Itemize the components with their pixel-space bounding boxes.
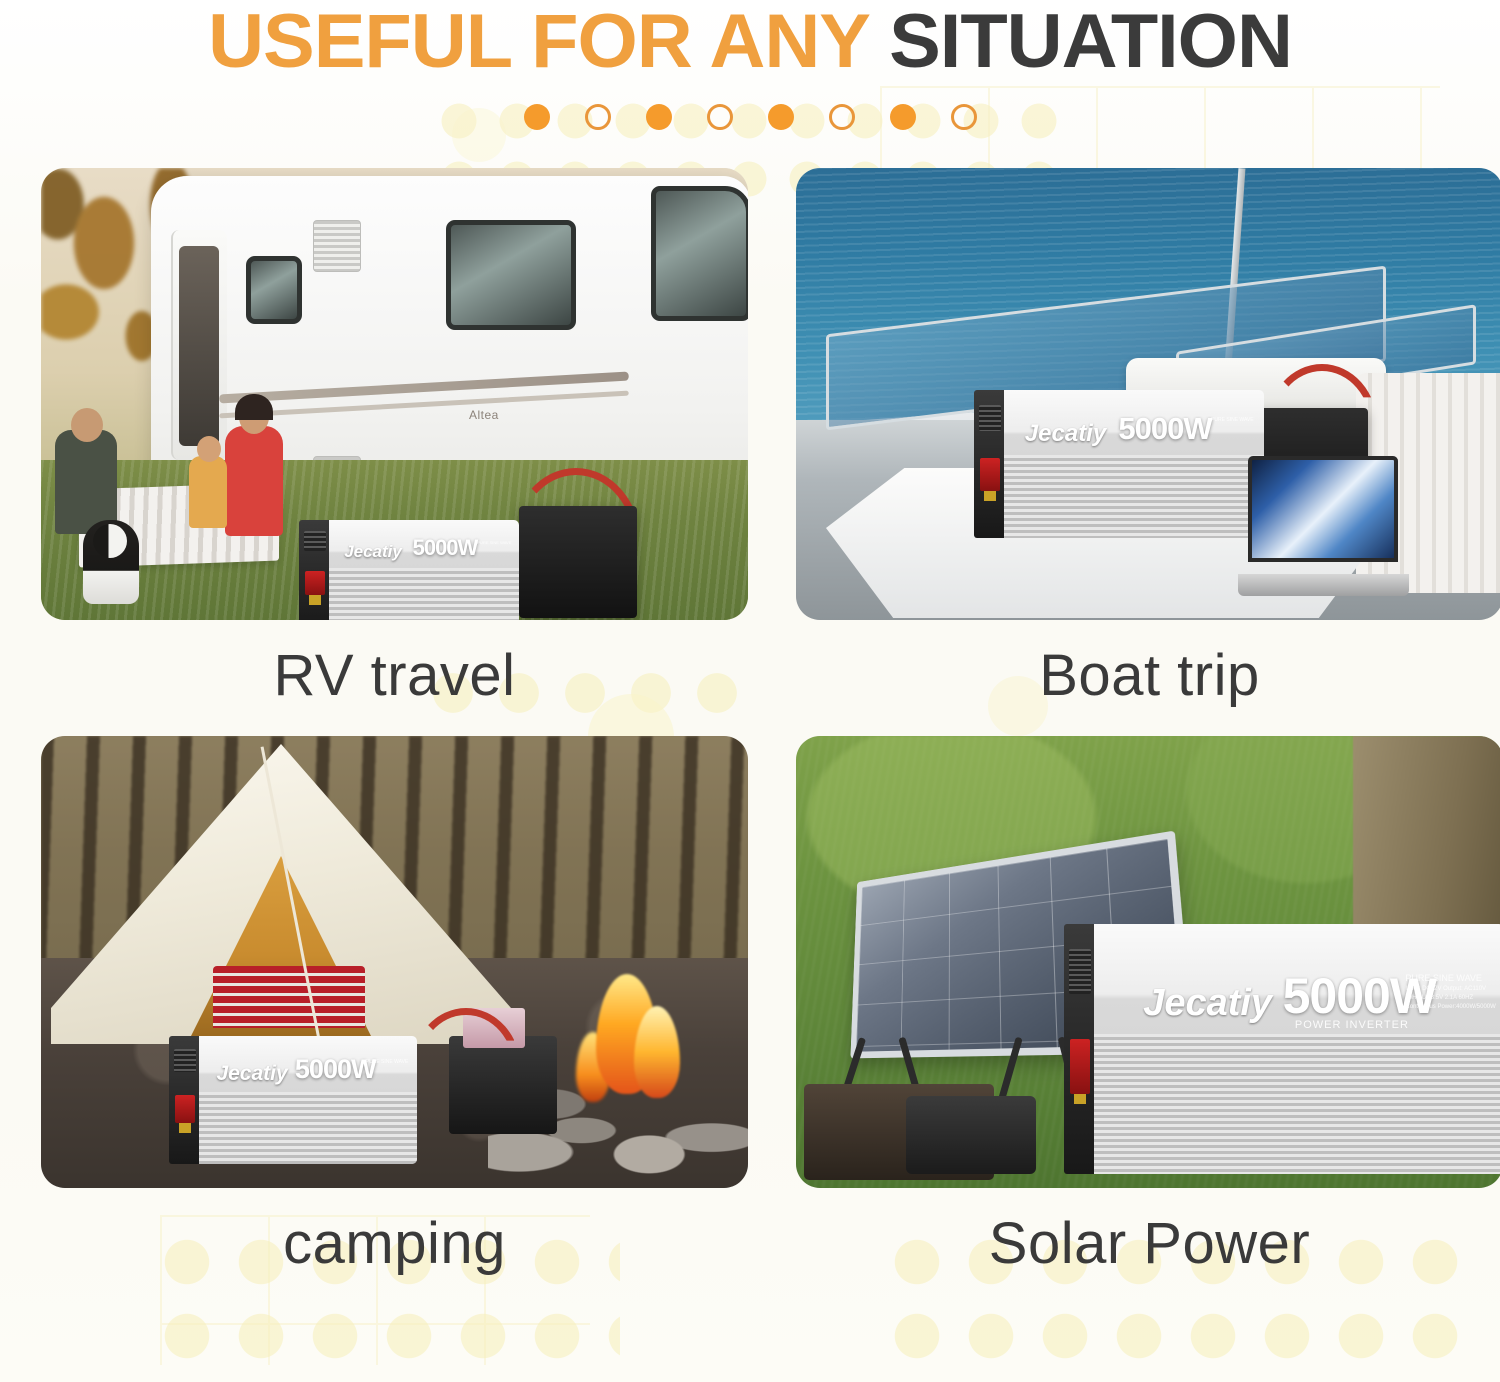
caption-camping: camping	[41, 1188, 748, 1298]
inverter-subtitle-label: POWER INVERTER	[415, 573, 474, 579]
scene-photo-camping: Jecatiy 5000W POWER INVERTER PURE SINE W…	[41, 736, 748, 1188]
inverter-subtitle-label: POWER INVERTER	[297, 1097, 356, 1103]
tent-red-bedding	[213, 966, 365, 1028]
campfire	[568, 978, 718, 1128]
scene-photo-solar-power: Jecatiy 5000W POWER INVERTER PURE SINE W…	[796, 736, 1500, 1188]
inverter-subtitle-label: POWER INVERTER	[1295, 1019, 1409, 1031]
caravan-doorway-opening	[179, 246, 219, 446]
caravan-window-rear	[651, 186, 748, 321]
inverter-spec-heading: PURE SINE WAVE	[1405, 972, 1495, 986]
caption-rv-travel: RV travel	[41, 620, 748, 730]
inverter-brand-label: Jecatiy	[216, 1062, 287, 1086]
inverter-terminal-panel	[1064, 924, 1098, 1174]
inverter-brand-label: Jecatiy	[344, 542, 402, 562]
dot-4	[707, 104, 733, 130]
page-title-dark: SITUATION	[889, 0, 1292, 84]
inverter-brand-label: Jecatiy	[1143, 982, 1272, 1025]
dot-7	[890, 104, 916, 130]
inverter-front-face: Jecatiy 5000W POWER INVERTER PURE SINE W…	[1004, 390, 1264, 538]
decorative-dot-row	[0, 104, 1500, 130]
use-case-grid: Altea Jecatiy 5000W POWER INVERTER	[19, 168, 1481, 1298]
inverter-wattage-label: 5000W	[413, 535, 478, 561]
inverter-device-camping: Jecatiy 5000W POWER INVERTER PURE SINE W…	[169, 1036, 417, 1164]
inverter-spec-line-1: Input: DC12V Output: AC110V	[1405, 985, 1495, 994]
inverter-spec-block: PURE SINE WAVE Input: DC12V Output: AC11…	[1405, 972, 1495, 1013]
inverter-device-rv: Jecatiy 5000W POWER INVERTER PURE SINE W…	[299, 520, 519, 620]
person-child	[189, 456, 227, 528]
dog-face	[93, 524, 127, 558]
inverter-front-face: Jecatiy 5000W POWER INVERTER PURE SINE W…	[1094, 924, 1500, 1174]
inverter-spec-line-3: Continuous Power:4000W/5000W	[1405, 1003, 1495, 1012]
inverter-front-face: Jecatiy 5000W POWER INVERTER PURE SINE W…	[329, 520, 519, 620]
inverter-wattage-label: 5000W	[1118, 411, 1211, 447]
campfire-flame-secondary	[634, 1006, 680, 1098]
inverter-front-face: Jecatiy 5000W POWER INVERTER PURE SINE W…	[199, 1036, 417, 1164]
inverter-terminal-panel	[169, 1036, 203, 1164]
inverter-spec-heading: PURE SINE WAVE	[366, 1059, 409, 1067]
inverter-spec-heading: PURE SINE WAVE	[477, 540, 511, 546]
person-adult-female	[225, 426, 283, 536]
caravan-window-large	[446, 220, 576, 330]
dot-3	[646, 104, 672, 130]
inverter-device-solar: Jecatiy 5000W POWER INVERTER PURE SINE W…	[1064, 924, 1500, 1174]
inverter-subtitle-label: POWER INVERTER	[1121, 461, 1190, 467]
use-case-card-rv-travel: Altea Jecatiy 5000W POWER INVERTER	[41, 168, 748, 730]
scene-photo-boat-trip: Jecatiy 5000W POWER INVERTER PURE SINE W…	[796, 168, 1500, 620]
page-header: USEFUL FOR ANY SITUATION	[0, 0, 1500, 130]
laptop-keyboard-base	[1238, 574, 1409, 596]
dot-1	[524, 104, 550, 130]
person-adult-male	[55, 430, 117, 534]
inverter-brand-label: Jecatiy	[1025, 420, 1106, 448]
inverter-wattage-label: 5000W	[295, 1054, 376, 1085]
scene-photo-rv-travel: Altea Jecatiy 5000W POWER INVERTER	[41, 168, 748, 620]
person-adult-female-hair	[235, 394, 273, 420]
inverter-spec-heading: PURE SINE WAVE	[1211, 417, 1254, 425]
use-case-card-boat-trip: Jecatiy 5000W POWER INVERTER PURE SINE W…	[796, 168, 1500, 730]
caption-boat-trip: Boat trip	[796, 620, 1500, 730]
caption-solar-power: Solar Power	[796, 1188, 1500, 1298]
person-child-head	[197, 436, 221, 462]
equipment-bag	[906, 1096, 1036, 1174]
caravan-window-small	[246, 256, 302, 324]
inverter-device-boat: Jecatiy 5000W POWER INVERTER PURE SINE W…	[974, 390, 1264, 538]
laptop-screen	[1248, 456, 1398, 562]
laptop-computer	[1248, 456, 1398, 596]
dot-6	[829, 104, 855, 130]
use-case-card-solar-power: Jecatiy 5000W POWER INVERTER PURE SINE W…	[796, 736, 1500, 1298]
dot-2	[585, 104, 611, 130]
page-title: USEFUL FOR ANY SITUATION	[0, 2, 1500, 82]
dot-5	[768, 104, 794, 130]
page-title-orange: USEFUL FOR ANY	[208, 0, 869, 84]
inverter-spec-line-2: 50HZ USB:5V 2.1A 60HZ	[1405, 994, 1495, 1003]
person-adult-male-head	[71, 408, 103, 442]
dot-8	[951, 104, 977, 130]
use-case-card-camping: Jecatiy 5000W POWER INVERTER PURE SINE W…	[41, 736, 748, 1298]
battery-rv	[519, 506, 637, 618]
inverter-terminal-panel	[299, 520, 333, 620]
caravan-model-badge: Altea	[469, 408, 499, 422]
caravan-vent-upper	[313, 220, 361, 272]
inverter-terminal-panel	[974, 390, 1008, 538]
